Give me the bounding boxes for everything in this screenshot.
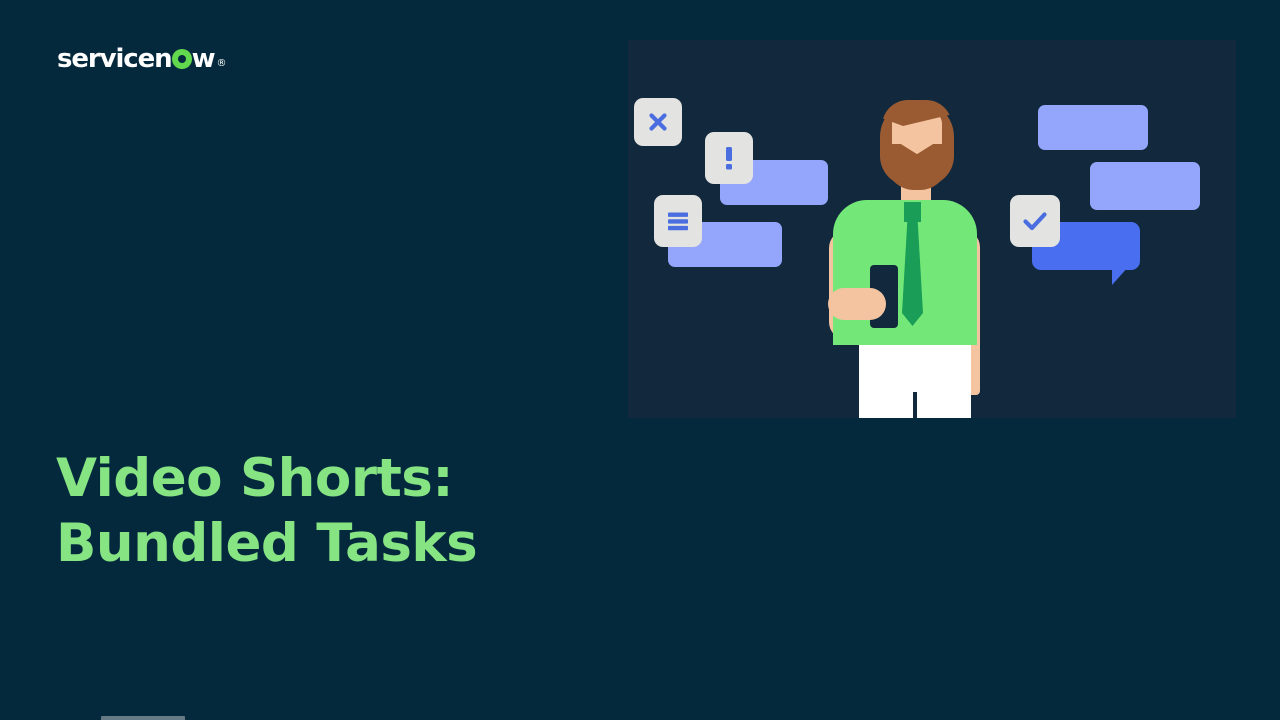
list-lines-icon	[665, 209, 691, 233]
illustration-panel	[628, 40, 1236, 418]
task-card-top	[1038, 105, 1148, 150]
logo-word-n: n	[154, 46, 171, 72]
exclamation-icon-tile[interactable]	[705, 132, 753, 184]
figure-pants-gap	[913, 392, 917, 418]
video-player-control-sliver[interactable]	[101, 716, 185, 720]
logo-ring-o-icon	[172, 49, 192, 69]
speech-bubble-tail	[1112, 266, 1129, 285]
logo-word-service: service	[57, 46, 154, 72]
title-line-2: Bundled Tasks	[56, 511, 616, 576]
trademark-symbol: ®	[216, 58, 226, 69]
list-lines-icon-tile[interactable]	[654, 195, 702, 247]
page-title: Video Shorts: Bundled Tasks	[56, 446, 616, 576]
logo-word-w: w	[192, 46, 215, 72]
checkmark-icon	[1021, 209, 1049, 233]
servicenow-logo: service n w ®	[57, 46, 226, 72]
title-line-1: Video Shorts:	[56, 446, 616, 511]
checkmark-icon-tile[interactable]	[1010, 195, 1060, 247]
close-x-icon	[646, 110, 670, 134]
close-x-icon-tile[interactable]	[634, 98, 682, 146]
task-card-middle	[1090, 162, 1200, 210]
exclamation-icon	[719, 144, 739, 172]
figure-left-hand	[828, 288, 886, 320]
slide-root: service n w ®	[0, 0, 1280, 720]
